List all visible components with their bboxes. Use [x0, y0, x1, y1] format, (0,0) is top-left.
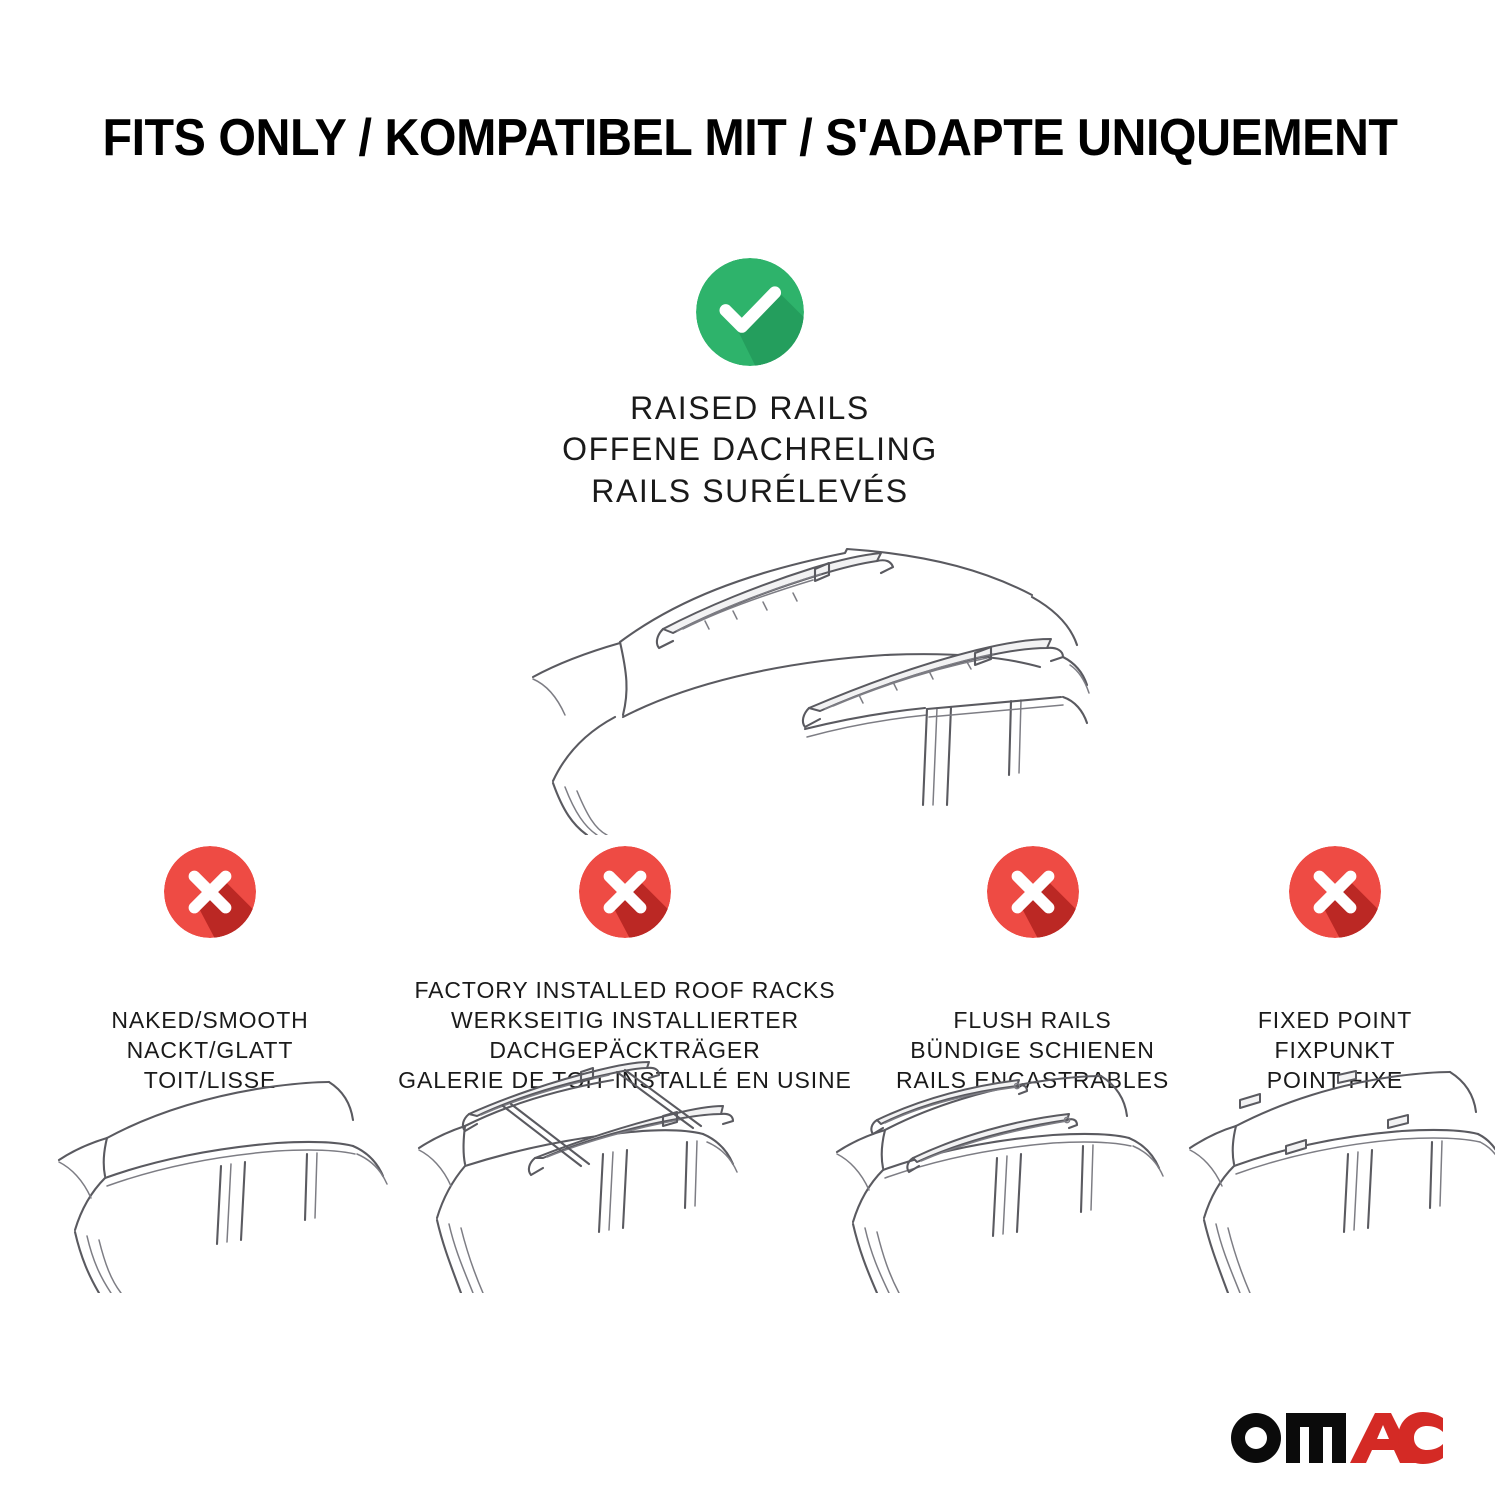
- incompatible-label-line: FLUSH RAILS: [860, 1006, 1205, 1036]
- omac-logo: [1228, 1402, 1443, 1464]
- car-roof-raised-rails-illustration: [415, 505, 1115, 835]
- incompatible-label-line: NAKED/SMOOTH: [60, 1006, 360, 1036]
- page-title: FITS ONLY / KOMPATIBEL MIT / S'ADAPTE UN…: [53, 108, 1448, 168]
- car-roof-factory-roof-racks-illustration: [395, 1058, 790, 1293]
- car-roof-naked-smooth-illustration: [45, 1058, 410, 1293]
- compatible-label-en: RAISED RAILS: [562, 388, 938, 429]
- cross-circle-icon: [987, 846, 1079, 938]
- check-circle-icon: [696, 258, 804, 366]
- cross-circle-icon: [579, 846, 671, 938]
- car-roof-fixed-point-illustration: [1180, 1058, 1495, 1293]
- compatible-label-de: OFFENE DACHRELING: [562, 429, 938, 470]
- car-roof-flush-rails-illustration: [825, 1058, 1200, 1293]
- compatible-section: RAISED RAILS OFFENE DACHRELING RAILS SUR…: [0, 258, 1500, 512]
- incompatible-label-line: FIXED POINT: [1205, 1006, 1465, 1036]
- cross-circle-icon: [164, 846, 256, 938]
- compatible-labels: RAISED RAILS OFFENE DACHRELING RAILS SUR…: [562, 388, 938, 512]
- incompatible-label-line: FACTORY INSTALLED ROOF RACKS: [395, 976, 855, 1006]
- incompatible-label-line: WERKSEITIG INSTALLIERTER: [395, 1006, 855, 1036]
- cross-circle-icon: [1289, 846, 1381, 938]
